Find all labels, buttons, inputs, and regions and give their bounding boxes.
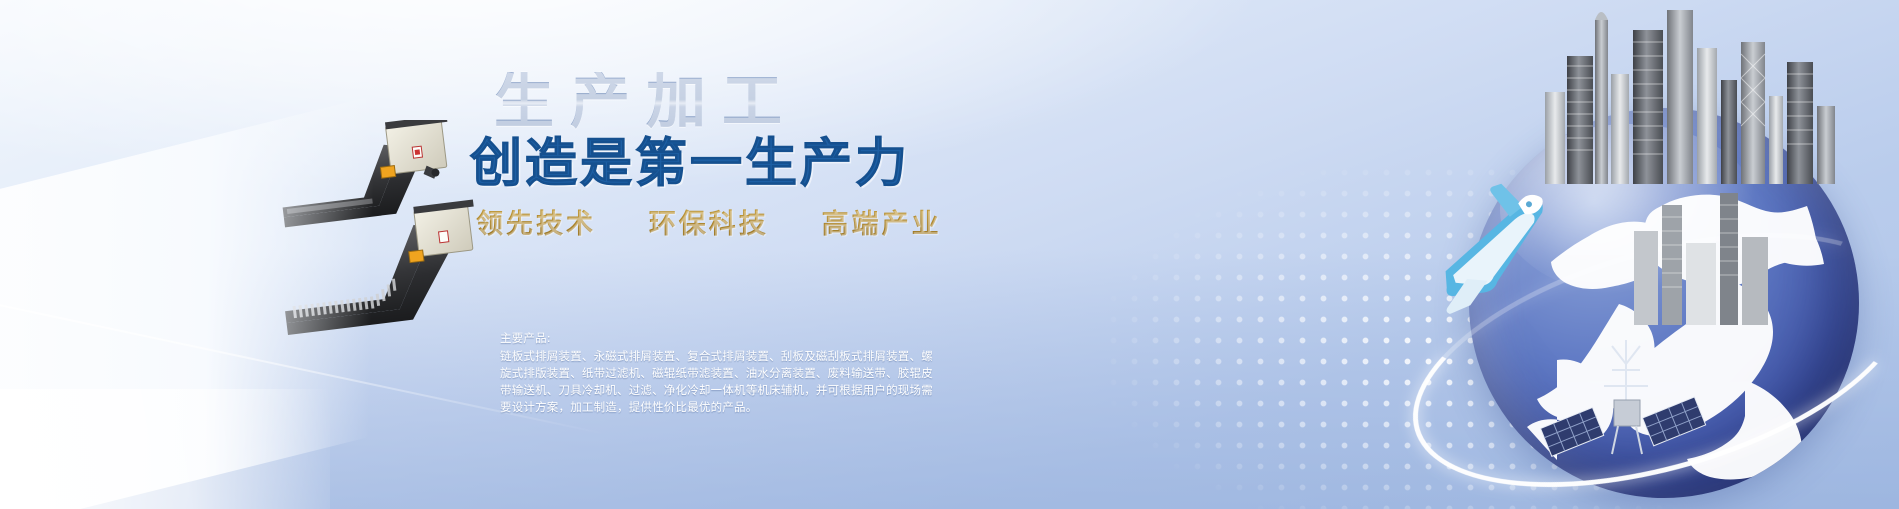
decorative-white-wedge-2 (0, 389, 330, 509)
satellite-icon (1534, 330, 1724, 470)
product-description-body: 链板式排屑装置、永磁式排屑装置、复合式排屑装置、刮板及磁刮板式排屑装置、螺旋式排… (500, 348, 940, 416)
promotional-banner: 生产加工 创造是第一生产力 领先技术 环保科技 高端产业 主要产品: 链板式排屑… (0, 0, 1899, 509)
globe-composition (1339, 0, 1899, 509)
tagline-row: 领先技术 环保科技 高端产业 (470, 202, 1030, 241)
tagline-1: 领先技术 (476, 209, 596, 240)
product-description: 主要产品: 链板式排屑装置、永磁式排屑装置、复合式排屑装置、刮板及磁刮板式排屑装… (500, 330, 940, 416)
headline-ghost: 生产加工 (470, 72, 1030, 132)
headline-block: 生产加工 创造是第一生产力 领先技术 环保科技 高端产业 (470, 72, 1030, 241)
city-skyline-foreground-icon (1624, 175, 1804, 325)
tagline-3: 高端产业 (822, 209, 942, 240)
city-skyline-icon (1519, 0, 1849, 186)
page-title: 创造是第一生产力 (470, 136, 1030, 192)
chip-conveyor-icon (95, 120, 525, 350)
product-description-title: 主要产品: (500, 330, 940, 347)
tagline-2: 环保科技 (649, 209, 769, 240)
